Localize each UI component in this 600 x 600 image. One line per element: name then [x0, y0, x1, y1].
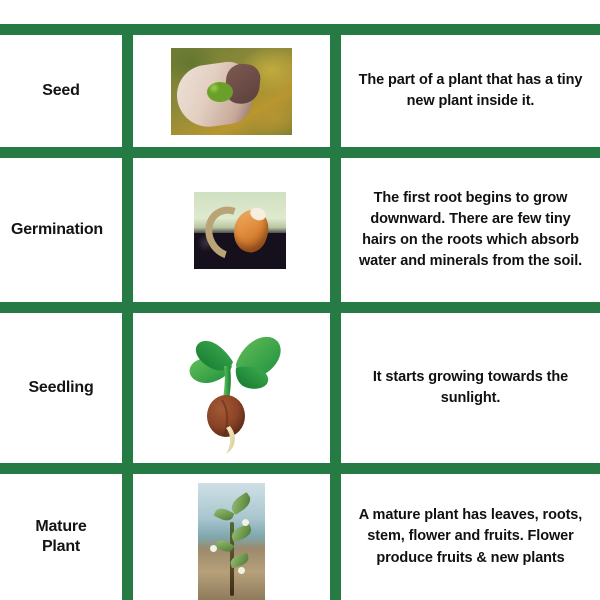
stage-label: Seedling [28, 378, 93, 398]
seedling-svg [186, 320, 286, 456]
table-row-seedling-stage-cell: Seedling [0, 313, 122, 463]
table-row-seedling-image-cell [133, 313, 330, 463]
grid-line-top [0, 24, 600, 35]
grid-line-row-1 [0, 147, 600, 158]
stage-description: The part of a plant that has a tiny new … [341, 70, 600, 112]
germination-photo [194, 192, 286, 269]
table-row-mature-plant-description-cell: A mature plant has leaves, roots, stem, … [341, 474, 600, 600]
mature-plant-photo [198, 483, 265, 600]
table-row-seedling-description-cell: It starts growing towards the sunlight. [341, 313, 600, 463]
flower-shape [242, 519, 249, 526]
grid-line-col-1 [122, 24, 133, 600]
stage-label: Germination [11, 220, 103, 240]
table-row-germination-stage-cell: Germination [0, 158, 122, 302]
table-row-seed-stage-cell: Seed [0, 35, 122, 147]
stage-description: The first root begins to grow downward. … [341, 188, 600, 272]
plant-life-cycle-table: Seed The part of a plant that has a tiny… [0, 0, 600, 600]
stage-label: Seed [42, 81, 79, 101]
grid-line-row-2 [0, 302, 600, 313]
flower-shape [238, 567, 245, 574]
stage-description: It starts growing towards the sunlight. [341, 367, 600, 409]
stage-description: A mature plant has leaves, roots, stem, … [341, 505, 600, 568]
table-row-mature-plant-image-cell [133, 474, 330, 600]
table-row-seed-description-cell: The part of a plant that has a tiny new … [341, 35, 600, 147]
stage-label: Mature Plant [15, 517, 107, 557]
seed-photo [171, 48, 292, 135]
grid-line-row-3 [0, 463, 600, 474]
seeds-shape [207, 82, 233, 102]
flower-shape [210, 545, 217, 552]
table-row-germination-image-cell [133, 158, 330, 302]
grid-line-col-2 [330, 24, 341, 600]
seedling-illustration [186, 320, 286, 456]
table-row-germination-description-cell: The first root begins to grow downward. … [341, 158, 600, 302]
table-row-mature-plant-stage-cell: Mature Plant [0, 474, 122, 600]
table-row-seed-image-cell [133, 35, 330, 147]
